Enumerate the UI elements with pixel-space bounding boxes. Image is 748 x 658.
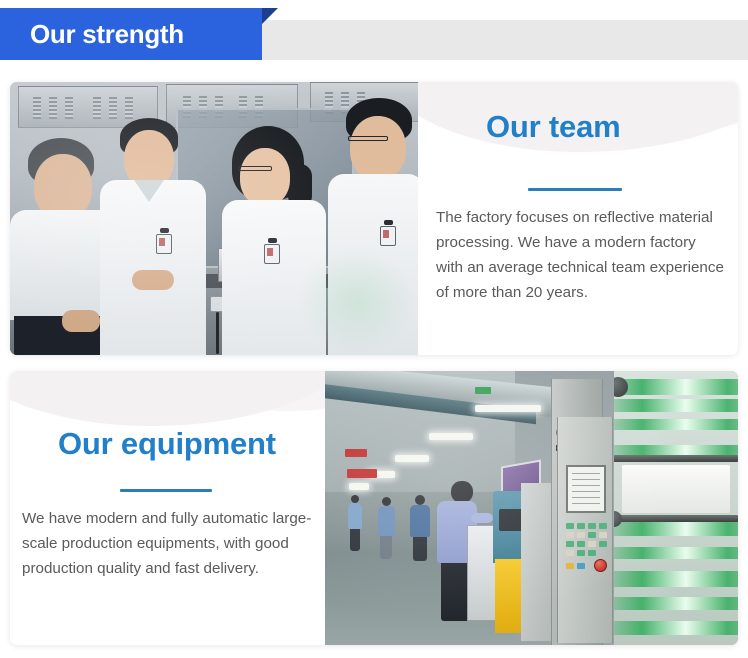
film-roll-area — [614, 371, 738, 645]
lab-power-cord — [216, 312, 219, 354]
card-our-equipment: Our equipment We have modern and fully a… — [10, 371, 738, 645]
equipment-description: We have modern and fully automatic large… — [22, 506, 322, 581]
factory-light — [475, 405, 541, 412]
team-text-panel: Our team The factory focuses on reflecti… — [418, 82, 738, 355]
factory-exit-sign — [475, 387, 491, 394]
emergency-stop-button — [594, 559, 607, 572]
factory-light — [429, 433, 473, 440]
white-film-roll — [622, 465, 730, 513]
roller-shaft — [614, 515, 738, 522]
factory-red-sign — [345, 449, 367, 457]
factory-worker-mid — [377, 497, 395, 559]
roller-shaft — [614, 455, 738, 462]
team-heading-rule — [528, 188, 622, 191]
equipment-heading-rule — [120, 489, 212, 492]
factory-red-display — [347, 469, 377, 478]
machine-hmi-screen — [566, 465, 606, 513]
factory-light — [395, 455, 429, 462]
operator-arm — [471, 513, 493, 523]
equipment-heading: Our equipment — [58, 426, 276, 462]
person-right — [328, 98, 418, 355]
section-header: Our strength — [0, 8, 748, 60]
lab-scene — [10, 82, 418, 355]
factory-light — [349, 483, 369, 490]
factory-worker-near — [409, 495, 431, 561]
team-heading: Our team — [486, 109, 621, 145]
person-second — [98, 118, 208, 355]
factory-scene — [325, 371, 738, 645]
factory-worker-far — [347, 495, 363, 551]
card-our-team: Our team The factory focuses on reflecti… — [10, 82, 738, 355]
equipment-photo — [325, 371, 738, 645]
equipment-text-panel: Our equipment We have modern and fully a… — [10, 371, 325, 645]
header-ribbon: Our strength — [0, 8, 262, 60]
page-title: Our strength — [0, 19, 184, 50]
team-photo — [10, 82, 418, 355]
machine-tower-right — [557, 417, 613, 643]
ribbon-fold-icon — [262, 8, 278, 24]
team-description: The factory focuses on reflective materi… — [436, 205, 726, 305]
person-third — [222, 126, 326, 355]
